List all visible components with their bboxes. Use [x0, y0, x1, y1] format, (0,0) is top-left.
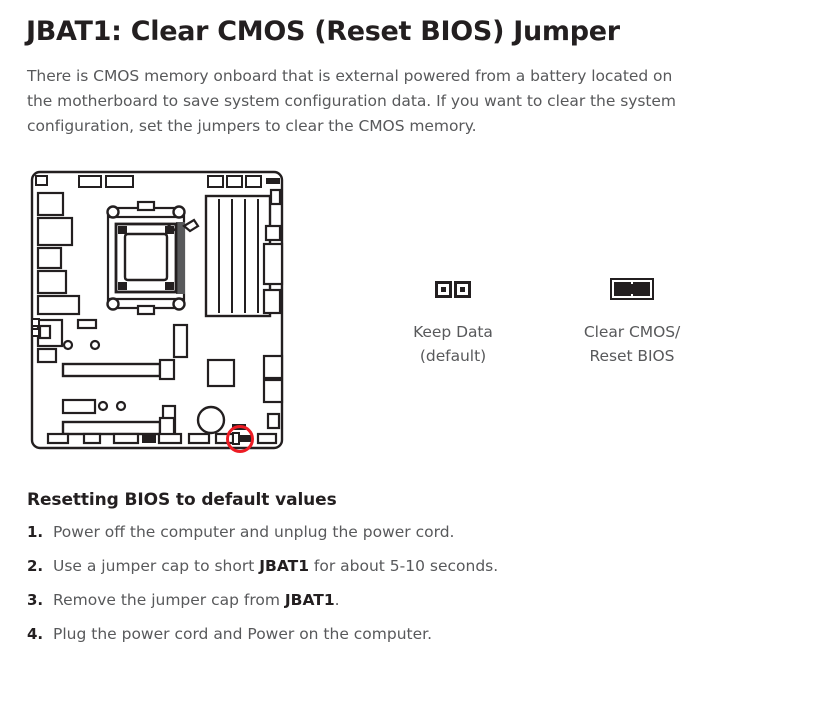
- step-text: Plug the power cord and Power on the com…: [53, 623, 667, 645]
- right-header-6: [264, 380, 282, 402]
- jumper-pin-2: [454, 281, 471, 298]
- bottom-header-9: [258, 434, 276, 443]
- dimm-slots: [206, 196, 270, 316]
- jumper-figure-keep-data: Keep Data (default): [373, 272, 533, 368]
- standoff-hole-2: [91, 341, 99, 349]
- small-header-a: [78, 320, 96, 328]
- corner-notch: [36, 176, 47, 185]
- jumper-shorted-icon: [552, 272, 712, 306]
- step-number: 2.: [27, 555, 53, 577]
- cmos-battery: [198, 407, 224, 433]
- standoff-hole-3: [99, 402, 107, 410]
- jumper-cap-notch-top: [631, 280, 633, 284]
- top-header-5: [246, 176, 261, 187]
- list-item: 3. Remove the jumper cap from JBAT1.: [27, 589, 667, 611]
- bottom-header-6: [189, 434, 209, 443]
- standoff-hole-1: [64, 341, 72, 349]
- io-port-4: [38, 271, 66, 293]
- pcie-slot-1: [63, 360, 174, 379]
- jumper-caption-line1: Clear CMOS/: [552, 320, 712, 344]
- jumper-figure-clear-cmos: Clear CMOS/ Reset BIOS: [552, 272, 712, 368]
- right-header-2: [266, 226, 280, 240]
- bottom-header-7: [216, 434, 233, 443]
- bottom-header-2: [84, 434, 100, 443]
- step-text: Remove the jumper cap from JBAT1.: [53, 589, 667, 611]
- top-header-1: [79, 176, 101, 187]
- top-header-3: [208, 176, 223, 187]
- jumper-pin-1: [435, 281, 452, 298]
- io-port-5: [38, 296, 79, 314]
- right-header-7: [268, 414, 279, 428]
- chipset-heatsink: [208, 360, 234, 386]
- right-header-4: [264, 290, 280, 313]
- top-small-connector: [266, 178, 280, 184]
- io-port-3: [38, 248, 61, 268]
- right-header-5: [264, 356, 282, 378]
- io-port-2: [38, 218, 72, 245]
- m2-slot-upper: [174, 325, 187, 357]
- jumper-open-icon: [373, 272, 533, 306]
- top-header-2: [106, 176, 133, 187]
- step-number: 1.: [27, 521, 53, 543]
- cpu-socket: [108, 202, 199, 314]
- page-title: JBAT1: Clear CMOS (Reset BIOS) Jumper: [26, 16, 620, 47]
- right-header-1: [271, 190, 280, 204]
- right-header-3: [264, 244, 282, 284]
- list-item: 2. Use a jumper cap to short JBAT1 for a…: [27, 555, 667, 577]
- jumper-caption-line2: (default): [373, 344, 533, 368]
- step-number: 4.: [27, 623, 53, 645]
- io-audio-notch-b: [32, 329, 39, 336]
- jumper-cap-notch-bottom: [631, 294, 633, 298]
- list-item: 4. Plug the power cord and Power on the …: [27, 623, 667, 645]
- jbat1-jumper: [233, 433, 253, 444]
- bottom-header-4-filled: [142, 434, 156, 443]
- step-text: Power off the computer and unplug the po…: [53, 521, 667, 543]
- jumper-cap: [612, 280, 652, 298]
- front-panel-audio: [63, 400, 95, 413]
- step-bold-term: JBAT1: [259, 557, 309, 575]
- step-number: 3.: [27, 589, 53, 611]
- jumper-caption-clear-cmos: Clear CMOS/ Reset BIOS: [552, 320, 712, 368]
- section-title-resetting-bios: Resetting BIOS to default values: [27, 490, 337, 510]
- standoff-hole-4: [117, 402, 125, 410]
- step-text: Use a jumper cap to short JBAT1 for abou…: [53, 555, 667, 577]
- motherboard-diagram: [26, 168, 288, 454]
- bottom-header-1: [48, 434, 68, 443]
- io-audio-notch-a: [32, 319, 39, 326]
- bottom-header-5: [159, 434, 181, 443]
- bottom-header-3: [114, 434, 138, 443]
- top-header-4: [227, 176, 242, 187]
- jumper-caption-keep-data: Keep Data (default): [373, 320, 533, 368]
- procedure-steps: 1. Power off the computer and unplug the…: [27, 521, 667, 657]
- list-item: 1. Power off the computer and unplug the…: [27, 521, 667, 543]
- jumper-caption-line1: Keep Data: [373, 320, 533, 344]
- intro-paragraph: There is CMOS memory onboard that is ext…: [27, 64, 682, 139]
- io-port-1: [38, 193, 63, 215]
- m2-screw-pad: [40, 326, 50, 338]
- document-page: JBAT1: Clear CMOS (Reset BIOS) Jumper Th…: [0, 0, 816, 711]
- step-bold-term: JBAT1: [285, 591, 335, 609]
- jumper-caption-line2: Reset BIOS: [552, 344, 712, 368]
- io-port-7: [38, 349, 56, 362]
